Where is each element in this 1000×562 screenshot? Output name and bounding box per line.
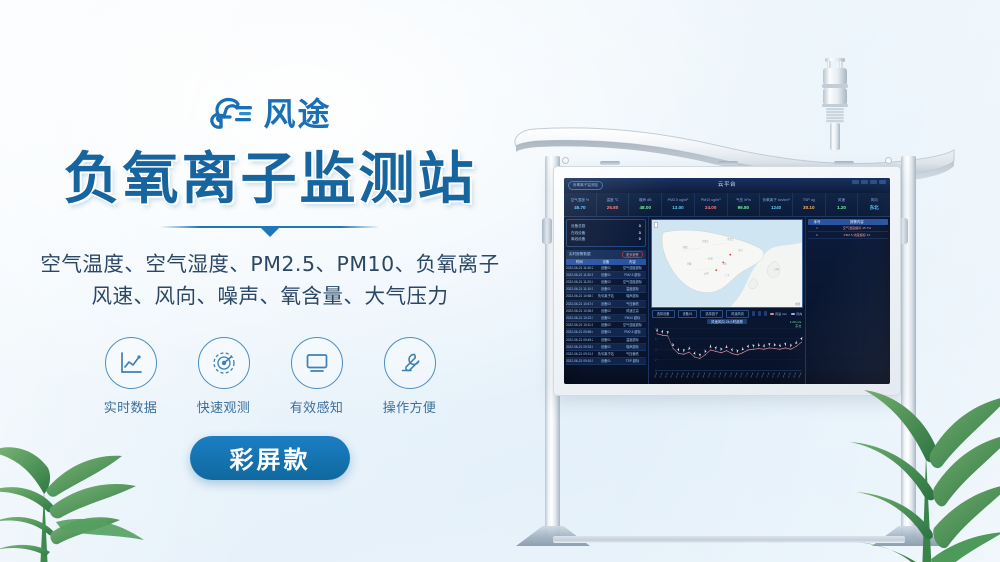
table-row[interactable]: 2022-06-21 10:22:31设备01PM10 超标 [566,315,646,322]
alert-cell: 空气湿度超标 45.7% [826,225,888,231]
svg-text:03:00: 03:00 [670,372,673,378]
table-cell: 2022-06-21 11:40:27 [566,265,593,271]
parameter-list: 空气温度、空气湿度、PM2.5、PM10、负氧离子 风速、风向、噪声、氧含量、大… [0,249,540,311]
dashboard-screen[interactable]: 负氧离子监测站 云平台 空气湿度 %45.70温度 ℃26.80噪声 dB48.… [564,178,890,384]
svg-text:13:00: 13:00 [724,372,727,378]
cabinet-vent [834,161,854,165]
table-row[interactable]: 2022-06-21 09:21:55负氧离子站气压偏低 [566,351,646,358]
alert-row[interactable]: 1空气湿度超标 45.7% [808,225,888,232]
legend-label: 风速 m/s [775,312,787,316]
device-stat-row: 离线设备0 [571,236,641,243]
monitor-display-icon [304,350,330,376]
svg-text:04:00: 04:00 [676,372,679,378]
readout-direction: 东北 [790,324,802,328]
legend-swatch [770,313,774,315]
table-cell: PM2.5 超标 [619,272,646,278]
metric-card: 风向东北 [858,193,890,216]
more-alarms-button[interactable]: 更多报警 [622,251,643,258]
page-title: 负氧离子监测站 [0,150,540,209]
svg-text:内蒙古: 内蒙古 [702,239,709,243]
chart-tool-button[interactable] [752,311,755,316]
table-cell: 设备01 [593,286,620,292]
svg-text:00:00: 00:00 [782,372,785,378]
alert-cell: 2 [808,232,826,238]
brand-name: 风途 [263,97,331,131]
metric-strip: 空气湿度 %45.70温度 ℃26.80噪声 dB48.00PM2.5 ug/m… [564,193,890,217]
product-illustration: 负氧离子监测站 云平台 空气湿度 %45.70温度 ℃26.80噪声 dB48.… [498,48,968,548]
chart-tool-button[interactable] [764,311,767,316]
table-cell: 噪声超标 [619,344,646,350]
toolbar-chip[interactable] [870,180,877,184]
feature-effective-sensing[interactable]: 有效感知 [284,337,350,416]
alert-row[interactable]: 2PM2.5 浓度超标 13 [808,232,888,239]
divider-caret-icon [261,228,279,237]
table-cell: 2022-06-21 09:21:55 [566,351,593,357]
chart-control-bar: 选择设备 设备01 选择因子 风速风向 风速 m/s风向 [651,308,804,319]
table-cell: 设备02 [593,308,620,314]
cabinet-vent [718,161,738,165]
toolbar-chip[interactable] [861,180,868,184]
table-cell: 设备01 [593,337,620,343]
select-factor-label: 选择因子 [700,310,723,318]
map-graphic: 新疆内蒙古 黑龙江西藏 甘肃河南 云南广东 北京日本 [652,220,803,307]
table-cell: 设备02 [593,279,620,285]
table-cell: 2022-06-21 09:58:44 [566,329,593,335]
ground-line [553,536,905,543]
table-cell: 2022-06-21 09:45:20 [566,337,593,343]
svg-text:06:00: 06:00 [686,372,689,378]
feature-row: 实时数据 快速观测 [0,337,540,416]
radar-observation-icon [211,350,237,376]
table-cell: 设备01 [593,265,620,271]
metric-value: 45.70 [564,203,596,212]
table-cell: 设备02 [593,344,620,350]
legend-swatch [791,313,795,315]
dashboard-left-panel: 设备总数3在线设备3离线设备0 实时报警数据 更多报警 时间设备内容 2022-… [564,217,649,384]
title-divider [160,223,380,237]
metric-value: 30.10 [793,203,825,212]
table-cell: 设备02 [593,322,620,328]
table-cell: 2022-06-21 10:11:09 [566,322,593,328]
marketing-text-column: 风途 负氧离子监测站 空气温度、空气湿度、PM2.5、PM10、负氧离子 风速、… [0,92,540,480]
table-cell: 负氧离子站 [593,351,620,357]
table-cell: 设备03 [593,301,620,307]
dashboard-header: 负氧离子监测站 云平台 [564,178,890,193]
alert-table-body: 1空气湿度超标 45.7%2PM2.5 浓度超标 13 [808,225,888,239]
map-attribution: 地图 [795,302,800,306]
table-cell: 气压偏低 [619,301,646,307]
table-cell: 2022-06-21 11:20:40 [566,279,593,285]
svg-text:12:00: 12:00 [718,372,721,378]
metric-card: 负氧离子 ion/cm³1240 [760,193,793,216]
svg-text:05:00: 05:00 [681,372,684,378]
stat-label: 离线设备 [571,236,585,243]
svg-text:2: 2 [655,360,656,362]
table-cell: 空气湿度超标 [619,322,646,328]
table-cell: 风速过高 [619,308,646,314]
wind-trend-chart: 风速风向 24小时趋势 1.20 m/s东北 65320 00:00 01:00… [651,319,804,383]
table-cell: 负氧离子站 [593,293,620,299]
cabinet-screw [885,157,892,164]
wrench-icon [397,350,423,376]
mount-bracket-left [542,218,552,244]
chart-readout: 1.20 m/s东北 [790,320,802,329]
alarm-table-body: 2022-06-21 11:40:27设备01空气湿度超标2022-06-21 … [566,265,646,366]
metric-card: 风速1.20 [826,193,859,216]
dashboard-body: 设备总数3在线设备3离线设备0 实时报警数据 更多报警 时间设备内容 2022-… [564,217,890,384]
table-row[interactable]: 2022-06-21 10:35:52设备02风速过高 [566,308,646,315]
alert-cell: PM2.5 浓度超标 13 [826,232,888,238]
chart-legend: 风速 m/s风向 [770,312,803,316]
cabinet-vent [600,161,620,165]
svg-text:17:00: 17:00 [745,372,748,378]
feature-icon-circle [105,337,157,389]
svg-text:03:00: 03:00 [799,372,802,378]
toolbar-chip[interactable] [879,180,886,184]
table-row[interactable]: 2022-06-21 09:33:07设备02噪声超标 [566,344,646,351]
table-cell: 气压偏低 [619,351,646,357]
table-row[interactable]: 2022-06-21 11:20:40设备02空气湿度超标 [566,279,646,286]
legend-entry[interactable]: 风向 [791,312,803,316]
feature-realtime-data[interactable]: 实时数据 [98,337,164,416]
svg-text:14:00: 14:00 [729,372,732,378]
dashboard-center-panel: 新疆内蒙古 黑龙江西藏 甘肃河南 云南广东 北京日本 地图 [649,217,806,384]
feature-fast-observation[interactable]: 快速观测 [191,337,257,416]
table-row[interactable]: 2022-06-21 09:10:18设备01TSP 超标 [566,358,646,365]
svg-text:08:00: 08:00 [697,372,700,378]
table-cell: 温度超标 [619,286,646,292]
svg-text:22:00: 22:00 [772,372,775,378]
svg-text:07:00: 07:00 [692,372,695,378]
table-cell: 设备01 [593,315,620,321]
table-row[interactable]: 2022-06-21 10:58:33负氧离子站噪声超标 [566,293,646,300]
select-device-dropdown[interactable]: 设备01 [678,310,698,318]
stat-value: 0 [639,236,641,243]
feature-icon-circle [384,337,436,389]
feature-icon-circle [198,337,250,389]
svg-text:09:00: 09:00 [702,372,705,378]
metric-value: 东北 [858,203,890,212]
dashboard-tag: 负氧离子监测站 [568,181,603,190]
metric-card: PM2.5 ug/m³13.00 [662,193,695,216]
line-chart-icon [118,350,144,376]
table-cell: 2022-06-21 10:22:31 [566,315,593,321]
metric-value: 1240 [760,203,792,212]
legend-label: 风向 [796,312,802,316]
metric-card: 温度 ℃26.80 [597,193,630,216]
parameter-list-line-2: 风速、风向、噪声、氧含量、大气压力 [0,281,540,312]
table-cell: 2022-06-21 09:33:07 [566,344,593,350]
feature-icon-circle [291,337,343,389]
feature-label: 操作方便 [377,397,443,416]
table-cell: PM2.5 超标 [619,329,646,335]
table-cell: 2022-06-21 11:30:12 [566,272,593,278]
svg-text:16:00: 16:00 [740,372,743,378]
chart-tool-button[interactable] [758,311,761,316]
metric-card: 空气湿度 %45.70 [564,193,597,216]
svg-text:02:00: 02:00 [665,372,668,378]
table-cell: TSP 超标 [619,358,646,364]
metric-value: 48.00 [629,203,661,212]
table-row[interactable]: 2022-06-21 10:11:09设备02空气湿度超标 [566,322,646,329]
svg-text:01:00: 01:00 [788,372,791,378]
metric-card: 噪声 dB48.00 [629,193,662,216]
metric-card: TSP ug30.10 [793,193,826,216]
feature-label: 快速观测 [191,397,257,416]
table-cell: 设备01 [593,272,620,278]
svg-text:15:00: 15:00 [734,372,737,378]
dashboard-toolbar[interactable] [852,180,886,184]
device-stats-box: 设备总数3在线设备3离线设备0 [566,219,646,247]
wind-cloud-logo-icon [208,97,254,131]
metric-card: 气压 hPa99.80 [728,193,761,216]
legend-entry[interactable]: 风速 m/s [770,312,787,316]
svg-text:黑龙江: 黑龙江 [727,237,734,241]
metric-card: PM10 ug/m³24.00 [695,193,728,216]
metric-value: 1.20 [826,203,858,212]
feature-easy-operation[interactable]: 操作方便 [377,337,443,416]
color-screen-model-button[interactable]: 彩屏款 [190,436,350,480]
alarm-table-title: 实时报警数据 [569,252,591,257]
table-row[interactable]: 2022-06-21 11:40:27设备01空气湿度超标 [566,265,646,272]
china-distribution-map[interactable]: 新疆内蒙古 黑龙江西藏 甘肃河南 云南广东 北京日本 地图 [651,219,804,308]
svg-text:5: 5 [655,339,656,341]
table-cell: 2022-06-21 11:10:08 [566,286,593,292]
svg-text:3: 3 [655,349,656,351]
chart-graphic: 65320 00:00 01:00 02:00 03:00 04:00 05:0… [651,319,804,383]
cabinet-screw [562,157,569,164]
svg-text:21:00: 21:00 [766,372,769,378]
table-cell: 设备03 [593,329,620,335]
alert-cell: 1 [808,225,826,231]
feature-label: 实时数据 [98,397,164,416]
table-cell: 2022-06-21 09:10:18 [566,358,593,364]
dashboard-title: 云平台 [718,180,736,188]
chart-title: 风速风向 24小时趋势 [707,319,747,324]
table-cell: 温度超标 [619,337,646,343]
svg-text:23:00: 23:00 [777,372,780,378]
toolbar-chip[interactable] [852,180,859,184]
metric-value: 24.00 [695,203,727,212]
table-cell: 空气湿度超标 [619,279,646,285]
table-row[interactable]: 2022-06-21 11:30:12设备01PM2.5 超标 [566,272,646,279]
brand-logo: 风途 [0,92,540,136]
svg-text:00:00: 00:00 [654,372,657,378]
table-cell: 2022-06-21 10:58:33 [566,293,593,299]
metric-value: 99.80 [728,203,760,212]
table-cell: 噪声超标 [619,293,646,299]
support-post-right [901,156,916,538]
svg-text:20:00: 20:00 [761,372,764,378]
table-cell: 空气湿度超标 [619,265,646,271]
alarm-table-header: 实时报警数据 更多报警 [566,250,646,259]
table-cell: 2022-06-21 10:35:52 [566,308,593,314]
parameter-list-line-1: 空气温度、空气湿度、PM2.5、PM10、负氧离子 [0,249,540,280]
svg-text:18:00: 18:00 [750,372,753,378]
table-cell: 设备01 [593,358,620,364]
table-cell: 2022-06-21 10:47:16 [566,301,593,307]
select-factor-dropdown[interactable]: 风速风向 [726,310,749,318]
svg-text:01:00: 01:00 [659,372,662,378]
table-row[interactable]: 2022-06-21 10:47:16设备03气压偏低 [566,301,646,308]
metric-value: 13.00 [662,203,694,212]
table-cell: PM10 超标 [619,315,646,321]
table-row[interactable]: 2022-06-21 09:45:20设备01温度超标 [566,337,646,344]
table-row[interactable]: 2022-06-21 11:10:08设备01温度超标 [566,286,646,293]
svg-text:11:00: 11:00 [713,372,716,378]
table-row[interactable]: 2022-06-21 09:58:44设备03PM2.5 超标 [566,329,646,336]
svg-text:02:00: 02:00 [793,372,796,378]
select-device-label: 选择设备 [652,310,675,318]
display-cabinet: 负氧离子监测站 云平台 空气湿度 %45.70温度 ℃26.80噪声 dB48.… [553,166,901,396]
metric-value: 26.80 [597,203,629,212]
map-zoom-control[interactable] [654,222,658,228]
feature-label: 有效感知 [284,397,350,416]
dashboard-right-panel: 序号报警内容 1空气湿度超标 45.7%2PM2.5 浓度超标 13 [805,217,890,384]
svg-text:10:00: 10:00 [708,372,711,378]
svg-text:19:00: 19:00 [756,372,759,378]
